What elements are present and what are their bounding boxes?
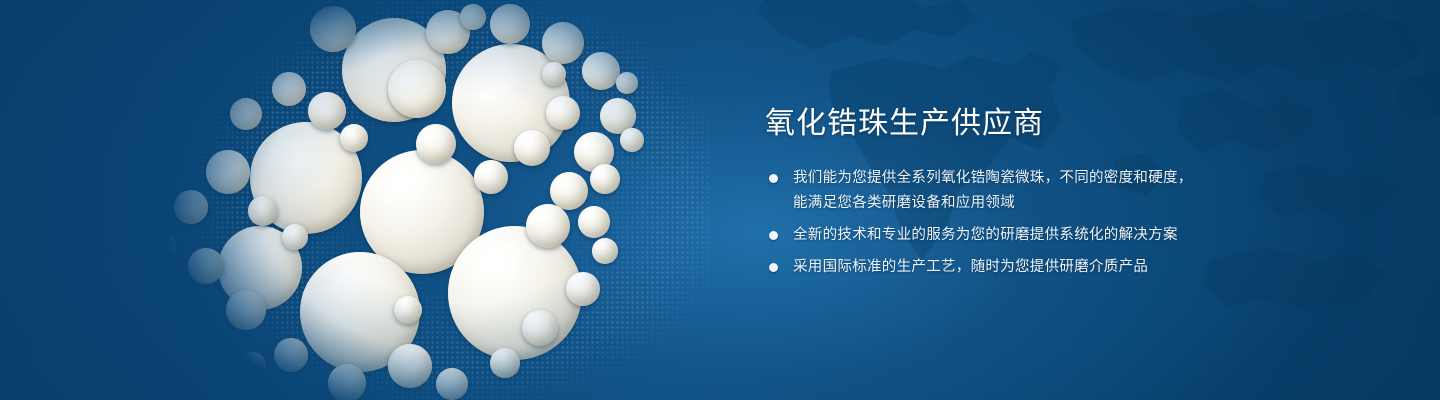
bullet-dot-icon [769, 174, 778, 183]
hero-banner: 氧化锆珠生产供应商 我们能为您提供全系列氧化锆陶瓷微珠，不同的密度和硬度， 能满… [0, 0, 1440, 400]
list-item-line-1: 我们能为您提供全系列氧化锆陶瓷微珠，不同的密度和硬度， [793, 170, 1193, 186]
bullet-dot-icon [769, 231, 778, 240]
list-item: 我们能为您提供全系列氧化锆陶瓷微珠，不同的密度和硬度， 能满足您各类研磨设备和应… [765, 166, 1385, 216]
list-item-line-1: 采用国际标准的生产工艺，随时为您提供研磨介质产品 [793, 259, 1148, 275]
banner-content: 氧化锆珠生产供应商 我们能为您提供全系列氧化锆陶瓷微珠，不同的密度和硬度， 能满… [765, 104, 1385, 280]
list-item-line-2: 能满足您各类研磨设备和应用领域 [793, 191, 1385, 216]
page-title: 氧化锆珠生产供应商 [765, 104, 1385, 144]
bullet-dot-icon [769, 263, 778, 272]
list-item: 全新的技术和专业的服务为您的研磨提供系统化的解决方案 [765, 223, 1385, 248]
list-item-line-1: 全新的技术和专业的服务为您的研磨提供系统化的解决方案 [793, 227, 1178, 243]
list-item: 采用国际标准的生产工艺，随时为您提供研磨介质产品 [765, 255, 1385, 280]
feature-list: 我们能为您提供全系列氧化锆陶瓷微珠，不同的密度和硬度， 能满足您各类研磨设备和应… [765, 166, 1385, 280]
